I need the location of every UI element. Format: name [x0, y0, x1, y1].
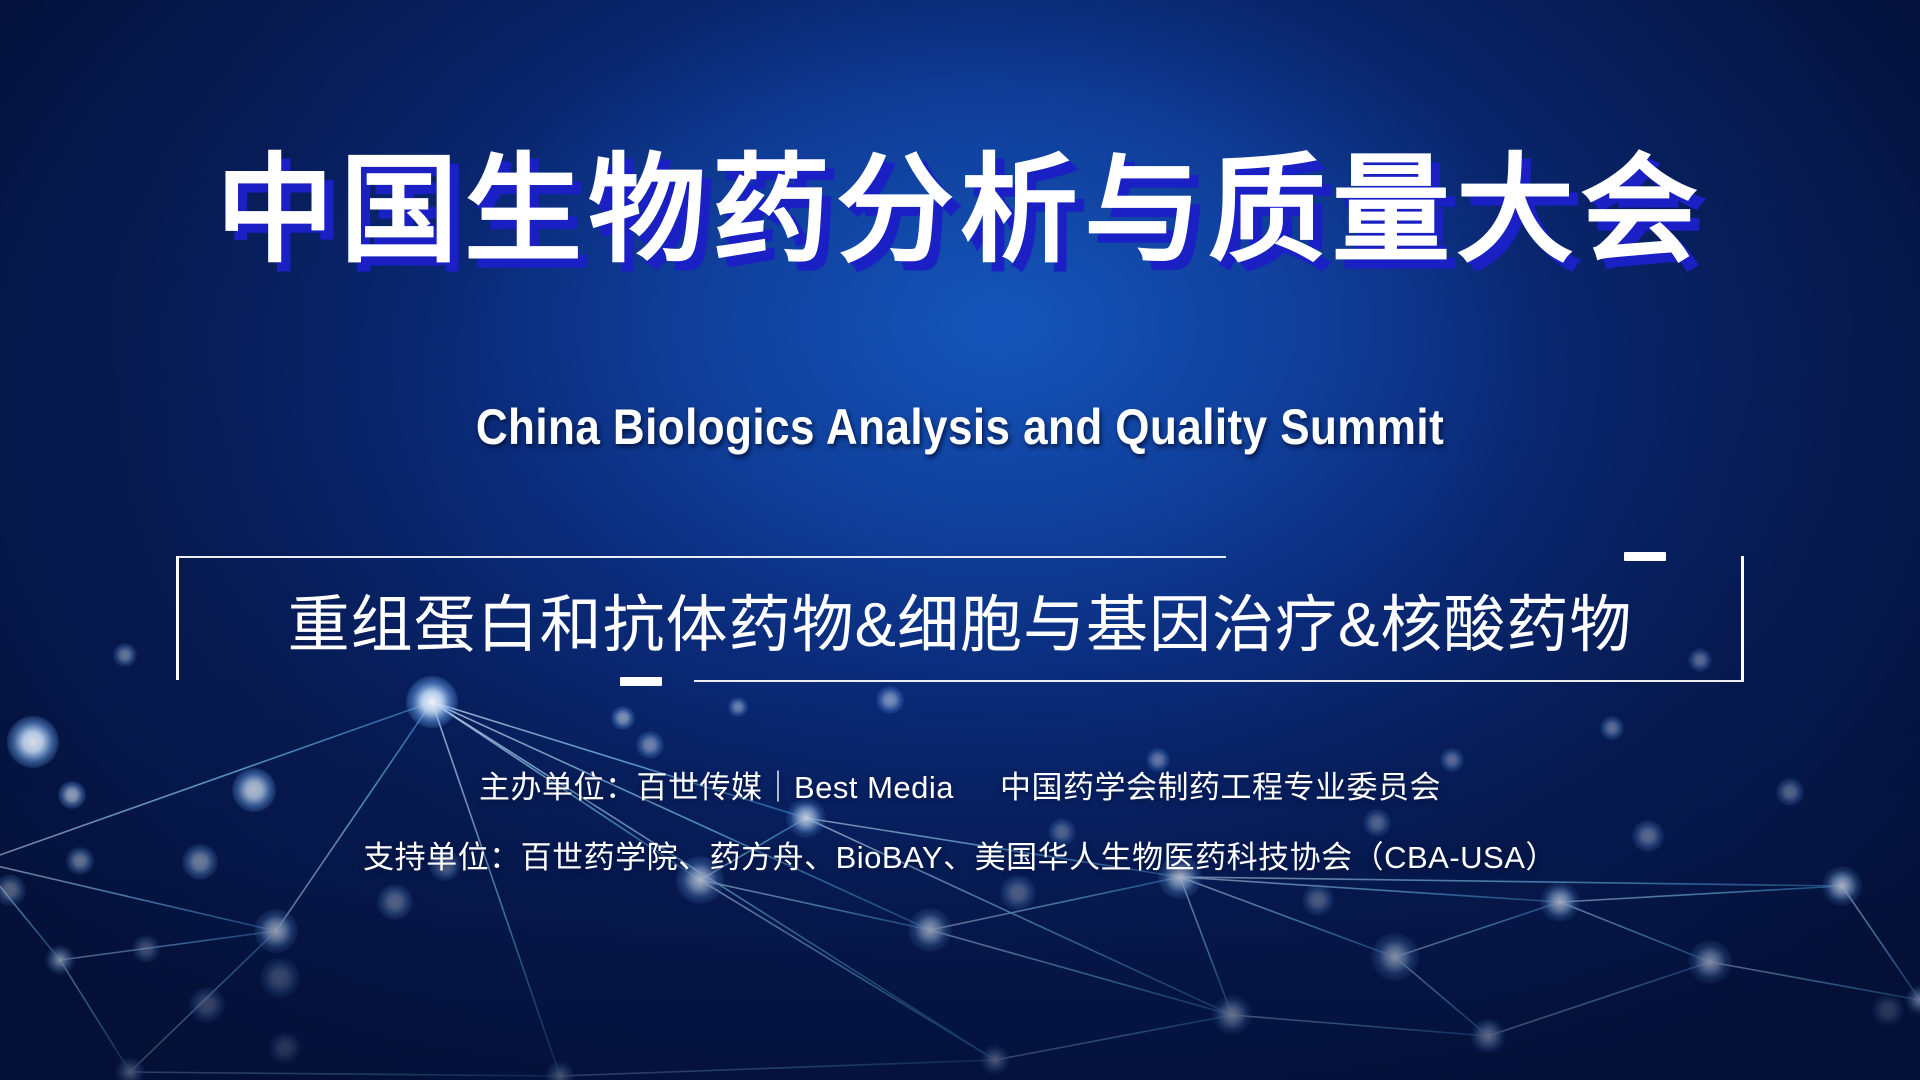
- network-edge: [1488, 962, 1710, 1036]
- topic-bracket: 重组蛋白和抗体药物&细胞与基因治疗&核酸药物: [176, 548, 1744, 690]
- network-edge: [930, 930, 1232, 1015]
- network-node: [1694, 946, 1726, 978]
- particle-dot: [260, 958, 300, 998]
- subtitle-english: China Biologics Analysis and Quality Sum…: [115, 398, 1805, 456]
- network-edge: [1395, 957, 1488, 1036]
- title-block: 中国生物药分析与质量大会: [0, 148, 1920, 275]
- support-label: 支持单位：: [363, 840, 521, 875]
- network-node: [44, 944, 76, 976]
- network-node: [914, 914, 946, 946]
- network-node: [260, 915, 292, 947]
- particle-dot: [611, 706, 635, 730]
- particle-dot: [113, 643, 137, 667]
- credits-block: 主办单位：百世传媒｜Best Media中国药学会制药工程专业委员会 支持单位：…: [0, 762, 1920, 877]
- host-secondary: 中国药学会制药工程专业委员会: [1000, 770, 1441, 805]
- particle-dot: [189, 987, 225, 1023]
- particle-dot: [1540, 882, 1580, 922]
- particle-dot: [269, 1032, 301, 1064]
- particle-dot: [377, 884, 413, 920]
- particle-dot: [1302, 884, 1334, 916]
- network-node: [1472, 1020, 1504, 1052]
- conference-poster: 中国生物药分析与质量大会 China Biologics Analysis an…: [0, 0, 1920, 1080]
- network-edge: [1180, 877, 1232, 1015]
- particle-dot: [7, 716, 59, 768]
- network-edge: [1560, 886, 1842, 902]
- particle-dot: [1000, 875, 1036, 911]
- network-node: [1544, 886, 1576, 918]
- network-node: [1379, 941, 1411, 973]
- network-node: [416, 686, 448, 718]
- network-nodes: [0, 686, 1920, 1080]
- credit-line-support: 支持单位：百世药学院、药方舟、BioBAY、美国华人生物医药科技协会（CBA-U…: [0, 832, 1920, 877]
- network-edge: [130, 1072, 560, 1076]
- particle-dot: [254, 909, 298, 953]
- network-node: [979, 1044, 1011, 1076]
- network-edge: [1180, 877, 1560, 902]
- network-edge: [432, 702, 560, 1076]
- topic-text: 重组蛋白和抗体药物&细胞与基因治疗&核酸药物: [176, 548, 1744, 690]
- credit-line-host: 主办单位：百世传媒｜Best Media中国药学会制药工程专业委员会: [0, 762, 1920, 807]
- network-edge: [700, 880, 995, 1060]
- network-node: [114, 1056, 146, 1080]
- particle-dot: [908, 908, 952, 952]
- network-edge: [60, 960, 130, 1072]
- support-orgs: 百世药学院、药方舟、BioBAY、美国华人生物医药科技协会（CBA-USA）: [521, 840, 1557, 875]
- network-edge: [1180, 877, 1842, 886]
- particle-dot: [636, 731, 664, 759]
- particle-dot: [0, 874, 26, 906]
- network-edge: [560, 1060, 995, 1076]
- network-edge: [995, 1015, 1232, 1060]
- page-title: 中国生物药分析与质量大会: [216, 148, 1704, 275]
- particle-dot: [132, 935, 160, 963]
- network-edge: [700, 880, 930, 930]
- network-edge: [930, 877, 1180, 930]
- particle-dot: [1212, 995, 1252, 1035]
- particle-dot: [876, 686, 904, 714]
- particle-dot: [1688, 940, 1732, 984]
- particle-dot: [1470, 1018, 1506, 1054]
- network-node: [544, 1060, 576, 1080]
- network-edge: [1395, 902, 1560, 957]
- network-edge: [60, 931, 276, 960]
- particle-dot: [1872, 994, 1904, 1026]
- particle-dot: [1600, 716, 1624, 740]
- network-node: [1904, 984, 1920, 1016]
- host-primary: 百世传媒｜Best Media: [636, 770, 954, 805]
- network-edge: [1180, 877, 1395, 957]
- network-edge: [1232, 1015, 1488, 1036]
- host-label: 主办单位：: [479, 770, 637, 805]
- network-edge: [1710, 962, 1920, 1000]
- network-edge: [1842, 886, 1920, 1000]
- network-edge: [432, 702, 995, 1060]
- particle-dot: [728, 697, 748, 717]
- network-edges: [0, 702, 1920, 1076]
- particle-dot: [1371, 933, 1419, 981]
- network-edge: [1560, 902, 1710, 962]
- network-edge: [130, 931, 276, 1072]
- network-node: [1216, 999, 1248, 1031]
